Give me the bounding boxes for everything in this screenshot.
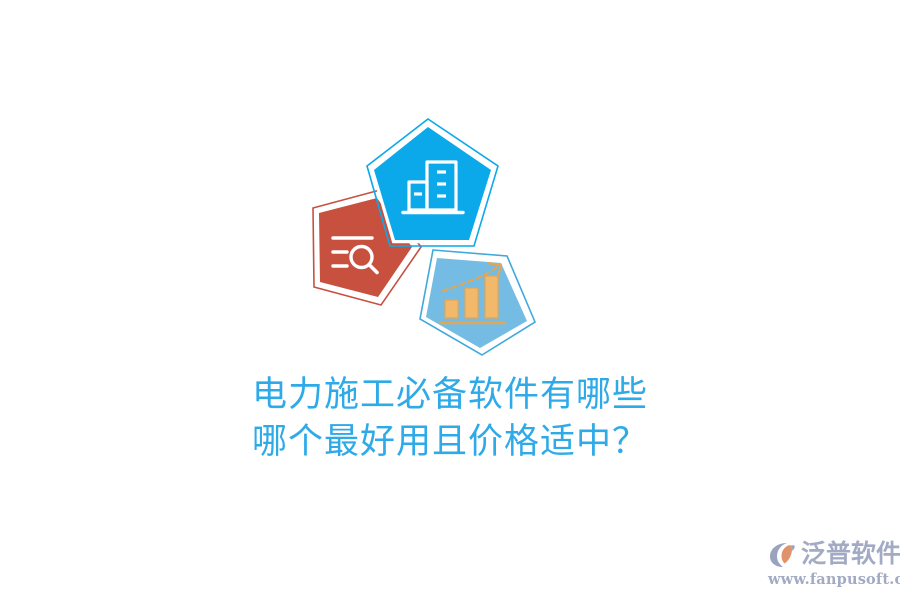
headline-line-1: 电力施工必备软件有哪些 [0,372,900,419]
fanpu-logo-icon [766,538,798,570]
pentagon-lightblue [420,250,535,355]
brand-watermark: 泛普软件 www.fanpusoft.com [766,536,894,592]
page-canvas: 电力施工必备软件有哪些 哪个最好用且价格适中？ 泛普软件 www.fanpuso… [0,0,900,600]
headline-line-2: 哪个最好用且价格适中？ [0,419,900,466]
pentagon-blue-body [374,127,491,240]
brand-name: 泛普软件 [801,540,900,568]
brand-watermark-row: 泛普软件 [766,536,894,572]
pentagon-cluster-graphic [285,110,555,360]
headline-text: 电力施工必备软件有哪些 哪个最好用且价格适中？ [0,372,900,466]
brand-url: www.fanpusoft.com [768,571,894,588]
